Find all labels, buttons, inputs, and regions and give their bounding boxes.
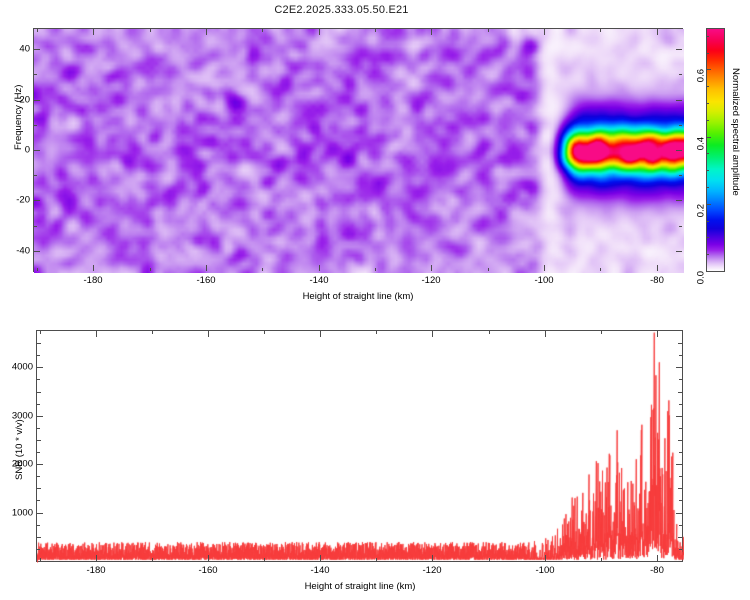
spectrogram-xtick-top: [431, 29, 432, 35]
snr-xtick-minor: [601, 331, 602, 334]
snr-ytick-minor: [678, 440, 682, 441]
snr-xtick-minor: [152, 558, 153, 561]
spectrogram-yticklabel: -20: [8, 195, 30, 206]
snr-trace: [37, 331, 684, 563]
spectrogram-ytick-right: [676, 150, 682, 151]
snr-ytick: [37, 416, 43, 417]
page-title: C2E2.2025.333.05.50.E21: [0, 4, 683, 16]
spectrogram-ytick: [34, 200, 40, 201]
snr-xtick-top: [432, 331, 433, 337]
spectrogram-panel: [33, 28, 683, 272]
spectrogram-xtick-minor: [600, 29, 601, 32]
snr-ytick-minor: [679, 404, 682, 405]
spectrogram-xticklabel: -140: [309, 275, 328, 286]
spectrogram-xtick-minor: [262, 29, 263, 32]
snr-ytick-minor: [679, 549, 682, 550]
spectrogram-xtick-top: [319, 29, 320, 35]
colorbar-tick-minor: [706, 53, 709, 54]
spectrogram-xtick-minor: [150, 29, 151, 32]
colorbar-tick-minor: [706, 103, 709, 104]
colorbar-ticklabel: 0.0: [696, 271, 707, 284]
snr-ytick-right: [676, 513, 682, 514]
snr-xtick-minor: [264, 558, 265, 561]
spectrogram-xtick-minor: [37, 29, 38, 32]
colorbar-tick: [706, 69, 711, 70]
spectrogram-ytick-right: [676, 100, 682, 101]
spectrogram-ytick-right: [676, 251, 682, 252]
snr-ytick-minor: [37, 525, 40, 526]
snr-ytick-minor: [679, 355, 682, 356]
spectrogram-xticklabel: -120: [421, 275, 440, 286]
snr-ytick-minor: [678, 537, 682, 538]
spectrogram-xticklabel: -100: [534, 275, 553, 286]
snr-ytick-minor: [37, 355, 40, 356]
snr-xtick-minor: [376, 331, 377, 334]
snr-xtick: [320, 555, 321, 561]
colorbar-tick: [706, 204, 711, 205]
snr-ytick-minor: [37, 379, 40, 380]
snr-ytick-minor: [678, 343, 682, 344]
snr-ytick-right: [676, 416, 682, 417]
spectrogram-yticklabel: 40: [8, 44, 30, 55]
colorbar-tick-minor: [706, 86, 709, 87]
snr-ytick-minor: [679, 500, 682, 501]
spectrogram-xtick-top: [206, 29, 207, 35]
colorbar: [706, 28, 725, 272]
snr-ytick-minor: [37, 452, 40, 453]
snr-yticklabel: 4000: [5, 362, 33, 373]
spectrogram-yticklabel: -40: [8, 246, 30, 257]
colorbar-title: Normalized spectral amplitude: [730, 68, 741, 196]
snr-xtick: [432, 555, 433, 561]
snr-ytick-minor: [37, 549, 40, 550]
spectrogram-xtick-minor: [488, 268, 489, 271]
spectrogram-ytick-right: [676, 49, 682, 50]
colorbar-ticklabel: 0.2: [696, 204, 707, 217]
snr-xticklabel: -80: [650, 565, 664, 576]
spectrogram-xtick: [93, 265, 94, 271]
spectrogram-ytick-minor: [34, 226, 37, 227]
spectrogram-xtick: [431, 265, 432, 271]
spectrogram-ytick: [34, 100, 40, 101]
snr-xtick-minor: [152, 331, 153, 334]
spectrogram-xtick: [206, 265, 207, 271]
spectrogram-ytick-minor: [679, 226, 682, 227]
snr-xtick-minor: [376, 558, 377, 561]
snr-yticklabel: 1000: [5, 508, 33, 519]
spectrogram-xticklabel: -180: [83, 275, 102, 286]
colorbar-tick-minor: [706, 170, 709, 171]
spectrogram-xtick: [544, 265, 545, 271]
snr-ytick: [37, 464, 43, 465]
spectrogram-ytick-minor: [34, 175, 37, 176]
snr-xtick: [96, 555, 97, 561]
snr-xtick-top: [545, 331, 546, 337]
snr-xtick-minor: [489, 331, 490, 334]
snr-xticklabel: -140: [310, 565, 329, 576]
spectrogram-xtick-minor: [600, 268, 601, 271]
colorbar-tick-minor: [706, 237, 709, 238]
spectrogram-image: [34, 29, 684, 273]
colorbar-ticklabel: 0.4: [696, 137, 707, 150]
snr-ytick-minor: [37, 500, 40, 501]
snr-xtick-minor: [601, 558, 602, 561]
snr-xtick-minor: [489, 558, 490, 561]
spectrogram-xtick-minor: [262, 268, 263, 271]
snr-xticklabel: -160: [198, 565, 217, 576]
spectrogram-xtick-minor: [375, 268, 376, 271]
spectrogram-ytick-minor: [679, 74, 682, 75]
snr-xaxis-label: Height of straight line (km): [305, 581, 416, 592]
snr-ytick-minor: [37, 440, 41, 441]
spectrogram-ytick-minor: [34, 74, 37, 75]
snr-ytick-minor: [37, 488, 41, 489]
colorbar-tick-minor: [706, 36, 709, 37]
snr-xtick-top: [96, 331, 97, 337]
spectrogram-ytick-right: [676, 200, 682, 201]
spectrogram-ytick-minor: [679, 125, 682, 126]
spectrogram-xtick-top: [93, 29, 94, 35]
snr-ytick-right: [676, 464, 682, 465]
colorbar-tick-minor: [706, 153, 709, 154]
spectrogram-xticklabel: -160: [196, 275, 215, 286]
spectrogram-xtick: [319, 265, 320, 271]
snr-ytick-minor: [37, 404, 40, 405]
snr-xticklabel: -100: [535, 565, 554, 576]
spectrogram-ytick: [34, 49, 40, 50]
snr-ytick-minor: [679, 428, 682, 429]
snr-ytick-minor: [37, 537, 41, 538]
spectrogram-xtick-minor: [37, 268, 38, 271]
snr-ytick-minor: [678, 392, 682, 393]
spectrogram-xticklabel: -80: [650, 275, 664, 286]
snr-ytick-minor: [679, 379, 682, 380]
spectrogram-ytick: [34, 251, 40, 252]
spectrogram-xtick-top: [544, 29, 545, 35]
snr-ytick-minor: [679, 525, 682, 526]
spectrogram-xtick-minor: [375, 29, 376, 32]
colorbar-tick-minor: [706, 254, 709, 255]
snr-xtick: [545, 555, 546, 561]
spectrogram-xtick-minor: [150, 268, 151, 271]
colorbar-tick: [706, 271, 711, 272]
snr-panel: [36, 330, 683, 562]
spectrogram-yaxis-label: Frequency (Hz): [13, 85, 24, 150]
colorbar-tick: [706, 137, 711, 138]
snr-xtick-minor: [264, 331, 265, 334]
snr-xtick-top: [657, 331, 658, 337]
snr-xtick-top: [320, 331, 321, 337]
snr-ytick-right: [676, 367, 682, 368]
snr-ytick-minor: [679, 476, 682, 477]
snr-ytick-minor: [37, 476, 40, 477]
figure-root: C2E2.2025.333.05.50.E21 -180-160-140-120…: [0, 0, 750, 600]
colorbar-gradient: [707, 29, 724, 271]
colorbar-tick-minor: [706, 120, 709, 121]
spectrogram-xtick-minor: [488, 29, 489, 32]
snr-ytick-minor: [37, 428, 40, 429]
snr-xtick: [208, 555, 209, 561]
snr-xtick-top: [208, 331, 209, 337]
spectrogram-xtick: [657, 265, 658, 271]
spectrogram-ytick-minor: [679, 175, 682, 176]
spectrogram-xaxis-label: Height of straight line (km): [303, 291, 414, 302]
snr-ytick: [37, 513, 43, 514]
snr-yaxis-label: SNR (10 * v/v): [14, 419, 25, 480]
spectrogram-ytick: [34, 150, 40, 151]
snr-xtick-minor: [40, 558, 41, 561]
snr-xtick-minor: [40, 331, 41, 334]
snr-ytick-minor: [679, 452, 682, 453]
spectrogram-xtick-top: [657, 29, 658, 35]
spectrogram-ytick-minor: [34, 125, 37, 126]
snr-xtick: [657, 555, 658, 561]
colorbar-ticklabel: 0.6: [696, 69, 707, 82]
snr-xticklabel: -180: [86, 565, 105, 576]
snr-ytick-minor: [37, 343, 41, 344]
snr-ytick-minor: [678, 488, 682, 489]
snr-ytick: [37, 367, 43, 368]
snr-xticklabel: -120: [422, 565, 441, 576]
colorbar-tick-minor: [706, 187, 709, 188]
snr-ytick-minor: [37, 392, 41, 393]
colorbar-tick-minor: [706, 221, 709, 222]
